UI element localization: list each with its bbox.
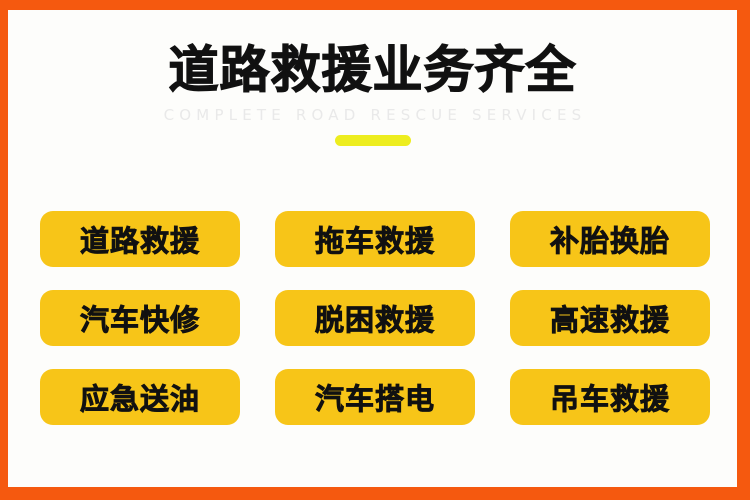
page-title: 道路救援业务齐全	[8, 44, 737, 97]
page-subtitle: COMPLETE ROAD RESCUE SERVICES	[8, 106, 737, 124]
service-button-jump-start[interactable]: 汽车搭电	[275, 369, 475, 425]
poster-header: 道路救援业务齐全 COMPLETE ROAD RESCUE SERVICES	[8, 44, 737, 146]
service-button-grid: 道路救援 拖车救援 补胎换胎 汽车快修 脱困救援 高速救援 应急送油 汽车搭电 …	[40, 211, 710, 425]
service-button-tire-repair[interactable]: 补胎换胎	[510, 211, 710, 267]
service-button-extrication[interactable]: 脱困救援	[275, 290, 475, 346]
service-button-highway-rescue[interactable]: 高速救援	[510, 290, 710, 346]
service-button-tow-rescue[interactable]: 拖车救援	[275, 211, 475, 267]
service-button-quick-car-repair[interactable]: 汽车快修	[40, 290, 240, 346]
poster-canvas: 道路救援业务齐全 COMPLETE ROAD RESCUE SERVICES 道…	[8, 10, 737, 487]
service-button-road-rescue[interactable]: 道路救援	[40, 211, 240, 267]
service-button-emergency-fuel[interactable]: 应急送油	[40, 369, 240, 425]
title-divider	[335, 135, 411, 146]
service-button-crane-rescue[interactable]: 吊车救援	[510, 369, 710, 425]
poster-frame: 道路救援业务齐全 COMPLETE ROAD RESCUE SERVICES 道…	[0, 0, 750, 500]
